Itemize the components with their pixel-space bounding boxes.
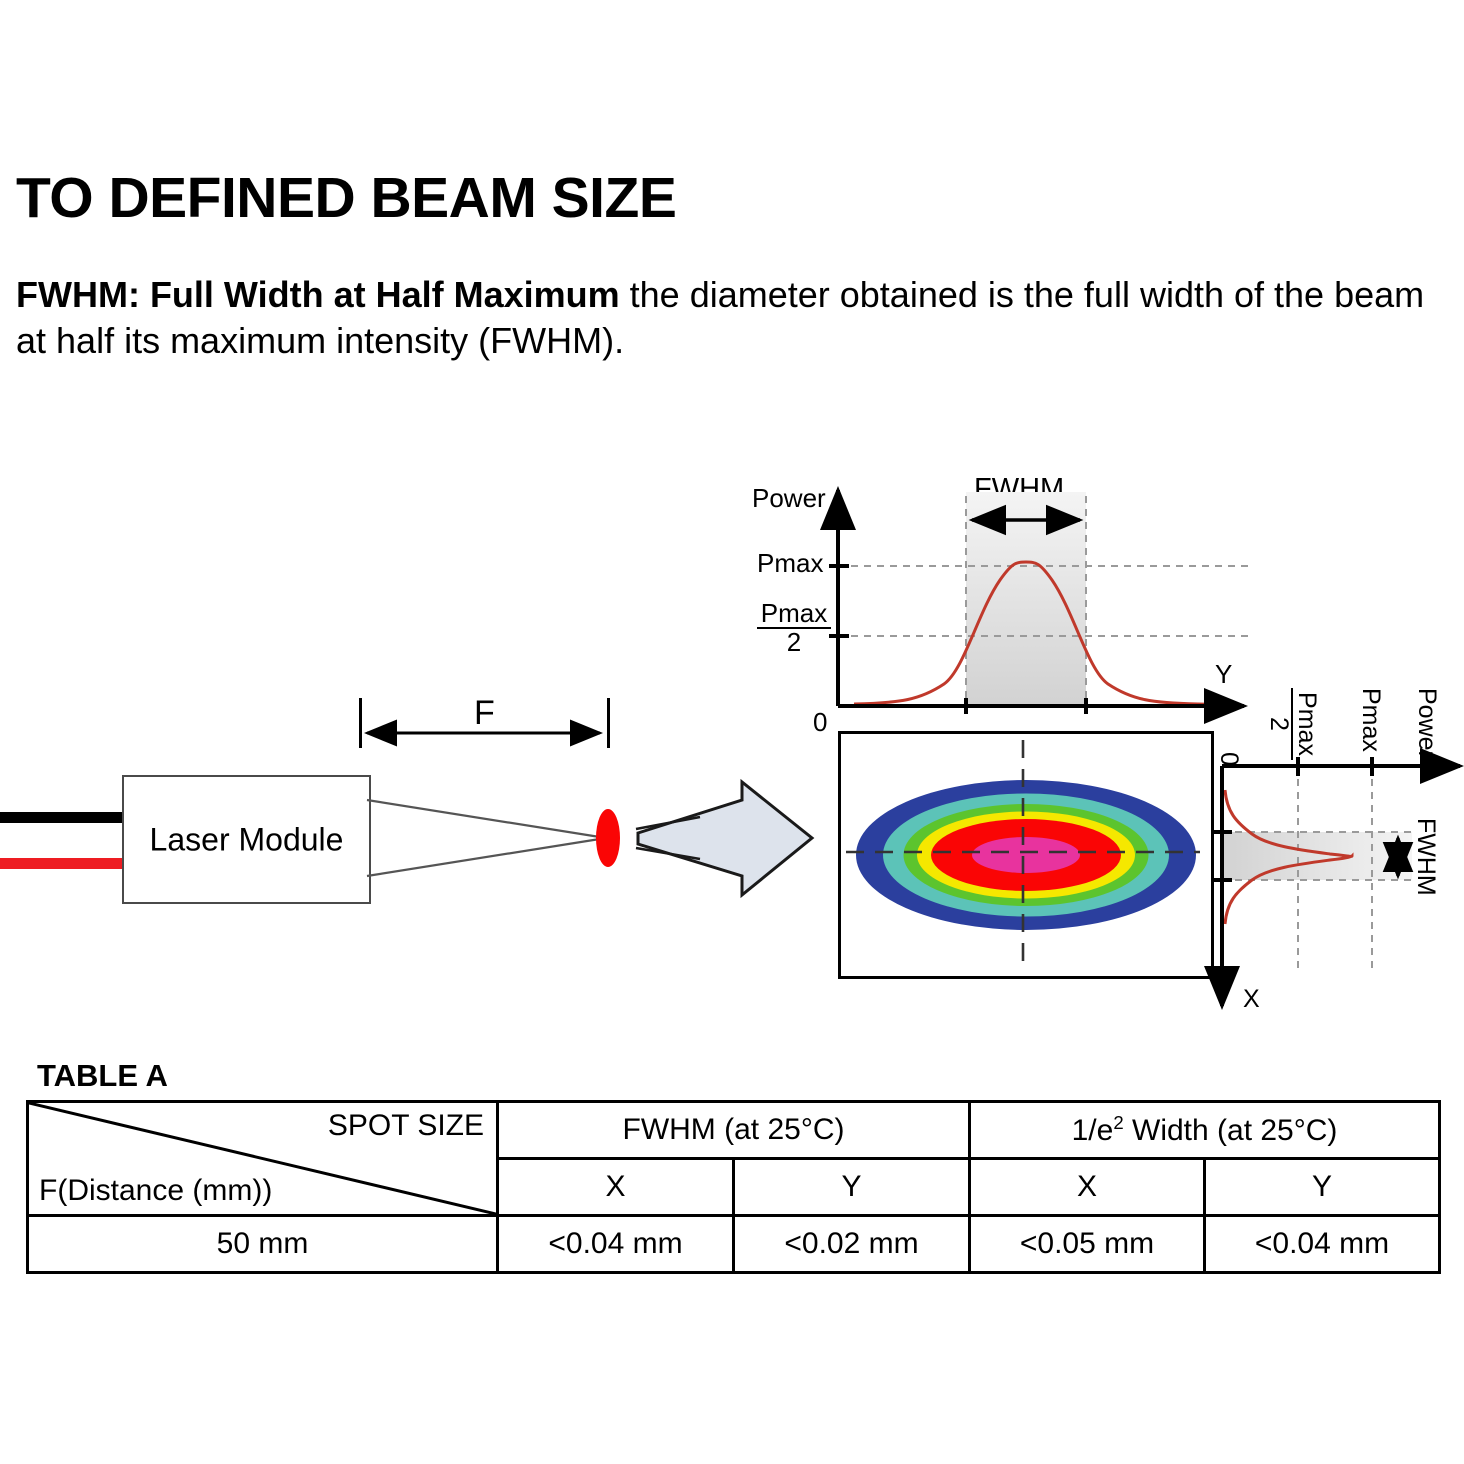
top-fwhm-shade <box>966 492 1086 706</box>
table-row: 50 mm <0.04 mm <0.02 mm <0.05 mm <0.04 m… <box>28 1216 1440 1273</box>
subheader-e2-y: Y <box>1205 1159 1440 1216</box>
top-chart-xlabel: Y <box>1215 659 1232 690</box>
table-corner-cell: SPOT SIZE F(Distance (mm)) <box>28 1102 498 1216</box>
group-header-1e2-width: 1/e2 Width (at 25°C) <box>970 1102 1440 1159</box>
laser-beam-cone <box>367 800 606 876</box>
subheader-fwhm-x: X <box>498 1159 734 1216</box>
page-title: TO DEFINED BEAM SIZE <box>16 170 676 227</box>
top-profile-chart <box>829 490 1253 714</box>
cell-e2-x: <0.05 mm <box>970 1216 1205 1273</box>
top-chart-ylabel: Power <box>752 483 826 514</box>
right-pmax-numerator: Pmax <box>1292 688 1320 760</box>
laser-module-box: Laser Module <box>122 775 371 904</box>
top-gaussian-curve <box>854 562 1240 705</box>
right-chart-axis-x: X <box>1243 985 1260 1014</box>
focal-spot <box>596 809 620 867</box>
top-chart-fwhm-label: FWHM <box>974 473 1064 506</box>
e2-label-post: Width (at 25°C) <box>1124 1114 1338 1147</box>
right-chart-fwhm-label: FWHM <box>1411 818 1440 896</box>
table-header-row-1: SPOT SIZE F(Distance (mm)) FWHM (at 25°C… <box>28 1102 1440 1159</box>
e2-label-pre: 1/e <box>1072 1114 1114 1147</box>
pmax-numerator: Pmax <box>757 600 831 629</box>
e2-label-sup: 2 <box>1113 1112 1123 1133</box>
right-chart-origin: 0 <box>1214 752 1243 766</box>
top-chart-ytick-pmax-half: Pmax 2 <box>757 600 831 655</box>
group-header-fwhm: FWHM (at 25°C) <box>498 1102 970 1159</box>
laser-module-label: Laser Module <box>124 821 369 858</box>
right-fwhm-shade <box>1222 832 1412 880</box>
cell-fwhm-x: <0.04 mm <box>498 1216 734 1273</box>
top-chart-ytick-pmax: Pmax <box>757 548 823 579</box>
f-distance-label: F(Distance (mm)) <box>39 1174 272 1208</box>
top-chart-origin: 0 <box>813 707 827 738</box>
wire-positive <box>0 858 136 869</box>
right-chart-axis-power: Power <box>1412 688 1441 759</box>
cell-e2-y: <0.04 mm <box>1205 1216 1440 1273</box>
beam-ring-magenta <box>972 837 1080 873</box>
diagram-page: TO DEFINED BEAM SIZE FWHM: Full Width at… <box>0 0 1464 1464</box>
pmax-denominator: 2 <box>757 629 831 656</box>
subheader-fwhm-y: Y <box>734 1159 970 1216</box>
pointer-arrow <box>636 782 812 895</box>
right-chart-tick-pmax-half: Pmax 2 <box>1266 688 1319 760</box>
right-chart-tick-pmax: Pmax <box>1356 688 1385 752</box>
cell-fwhm-y: <0.02 mm <box>734 1216 970 1273</box>
wire-negative <box>0 812 136 823</box>
right-gaussian-curve <box>1225 790 1352 924</box>
distance-label-f: F <box>474 694 495 733</box>
fwhm-definition: FWHM: Full Width at Half Maximum the dia… <box>16 272 1456 364</box>
subheader-e2-x: X <box>970 1159 1205 1216</box>
dim-tick-right <box>607 698 610 748</box>
right-pmax-denominator: 2 <box>1266 688 1292 760</box>
table-a: SPOT SIZE F(Distance (mm)) FWHM (at 25°C… <box>26 1100 1441 1274</box>
cell-distance: 50 mm <box>28 1216 498 1273</box>
spot-size-label: SPOT SIZE <box>328 1109 484 1143</box>
table-title: TABLE A <box>37 1058 168 1094</box>
fwhm-definition-term: FWHM: Full Width at Half Maximum <box>16 274 620 315</box>
beam-spot-box <box>838 731 1214 979</box>
dim-tick-left <box>359 698 362 748</box>
